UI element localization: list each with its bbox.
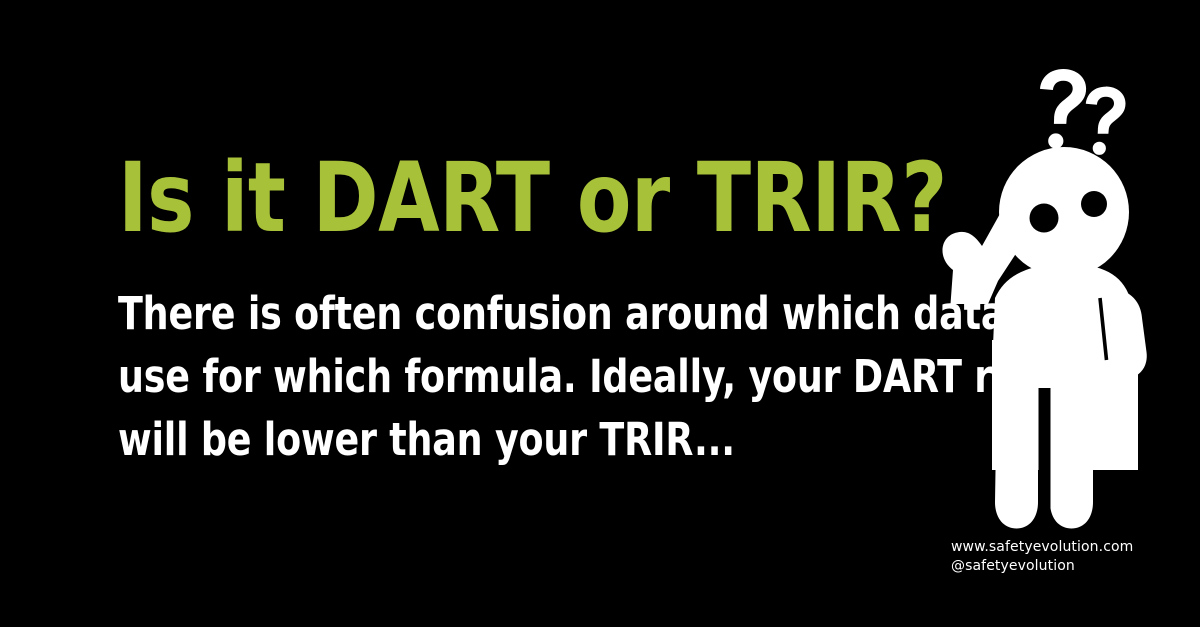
footer-social-handle: @safetyevolution <box>951 557 1133 576</box>
page-title: Is it DART or TRIR? <box>118 150 845 246</box>
copy-block: Is it DART or TRIR? There is often confu… <box>118 150 908 471</box>
head <box>999 147 1129 277</box>
poster-canvas: Is it DART or TRIR? There is often confu… <box>0 0 1200 627</box>
question-mark-large-icon <box>1040 69 1086 149</box>
body-copy: There is often confusion around which da… <box>118 246 829 471</box>
question-mark-small-icon <box>1086 87 1126 155</box>
body-line-3: will be lower than your TRIR... <box>118 408 829 471</box>
body-line-1: There is often confusion around which da… <box>118 282 829 345</box>
eye-left <box>1030 204 1059 233</box>
footer-website: www.safetyevolution.com <box>951 538 1133 557</box>
body-line-2: use for which formula. Ideally, your DAR… <box>118 345 829 408</box>
eye-right <box>1081 191 1107 217</box>
right-arm <box>1101 290 1147 379</box>
confused-person-icon <box>920 40 1180 540</box>
footer-credits: www.safetyevolution.com @safetyevolution <box>951 538 1133 576</box>
leg-gap <box>1039 388 1051 528</box>
